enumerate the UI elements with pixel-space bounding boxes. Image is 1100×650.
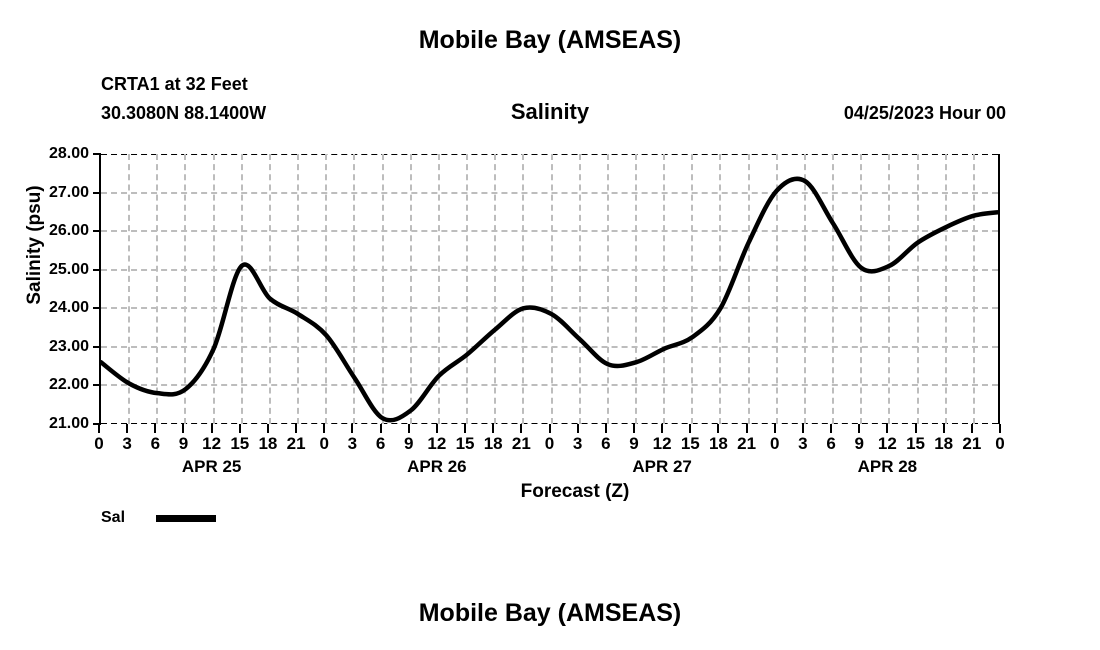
x-axis-tick-mark xyxy=(464,424,466,433)
y-axis-tick-mark xyxy=(93,269,101,271)
x-axis-tick-mark xyxy=(126,424,128,433)
y-axis-tick-label: 23.00 xyxy=(9,339,89,355)
y-axis-tick-label: 28.00 xyxy=(9,146,89,162)
x-axis-tick-mark xyxy=(689,424,691,433)
x-axis-tick-mark xyxy=(943,424,945,433)
x-axis-tick-mark xyxy=(295,424,297,433)
y-axis-tick-label: 24.00 xyxy=(9,300,89,316)
model-run-time: 04/25/2023 Hour 00 xyxy=(0,103,1006,124)
x-axis-day-label: APR 28 xyxy=(807,457,967,477)
footer-title: Mobile Bay (AMSEAS) xyxy=(0,599,1100,628)
y-axis-tick-mark xyxy=(93,346,101,348)
x-axis-tick-mark xyxy=(717,424,719,433)
plot-area xyxy=(99,154,1000,424)
x-axis-tick-mark xyxy=(154,424,156,433)
x-axis-tick-mark xyxy=(211,424,213,433)
y-axis-tick-label: 22.00 xyxy=(9,377,89,393)
y-axis-tick-mark xyxy=(93,307,101,309)
y-axis-tick-mark xyxy=(93,384,101,386)
x-axis-tick-mark xyxy=(999,424,1001,433)
x-axis-tick-mark xyxy=(520,424,522,433)
y-axis-tick-label: 21.00 xyxy=(9,416,89,432)
x-axis-tick-label: 0 xyxy=(980,434,1020,454)
x-axis-tick-mark xyxy=(492,424,494,433)
y-axis-tick-labels: 28.0027.0026.0025.0024.0023.0022.0021.00 xyxy=(7,154,89,424)
x-axis-tick-mark xyxy=(267,424,269,433)
station-label: CRTA1 at 32 Feet xyxy=(101,74,248,95)
x-axis-tick-mark xyxy=(98,424,100,433)
y-axis-tick-label: 27.00 xyxy=(9,185,89,201)
x-axis-tick-mark xyxy=(323,424,325,433)
x-axis-tick-mark xyxy=(915,424,917,433)
x-axis-day-label: APR 26 xyxy=(357,457,517,477)
x-axis-tick-mark xyxy=(746,424,748,433)
x-axis-tick-mark xyxy=(605,424,607,433)
x-axis-tick-mark xyxy=(549,424,551,433)
x-axis-title-text: Forecast (Z) xyxy=(521,481,630,503)
x-axis-day-label: APR 27 xyxy=(582,457,742,477)
x-axis-tick-mark xyxy=(886,424,888,433)
y-axis-tick-mark xyxy=(93,153,101,155)
y-axis-tick-mark xyxy=(93,423,101,425)
x-axis-tick-mark xyxy=(971,424,973,433)
x-axis-tick-mark xyxy=(802,424,804,433)
x-axis-tick-mark xyxy=(380,424,382,433)
x-axis-tick-mark xyxy=(633,424,635,433)
x-axis-day-label: APR 25 xyxy=(132,457,292,477)
salinity-line-series xyxy=(101,154,998,424)
x-axis-tick-mark xyxy=(351,424,353,433)
legend-label: Sal xyxy=(101,509,151,527)
y-axis-tick-mark xyxy=(93,192,101,194)
x-axis-tick-mark xyxy=(858,424,860,433)
x-axis-tick-mark xyxy=(661,424,663,433)
x-axis-tick-mark xyxy=(239,424,241,433)
legend: Sal xyxy=(101,509,216,527)
y-axis-tick-label: 25.00 xyxy=(9,262,89,278)
x-axis-tick-mark xyxy=(436,424,438,433)
x-axis-tick-mark xyxy=(774,424,776,433)
x-axis-tick-mark xyxy=(830,424,832,433)
x-axis-tick-mark xyxy=(408,424,410,433)
y-axis-tick-label: 26.00 xyxy=(9,223,89,239)
page-title: Mobile Bay (AMSEAS) xyxy=(0,26,1100,55)
x-axis-title: Forecast (Z) xyxy=(0,481,1100,503)
x-axis-tick-mark xyxy=(182,424,184,433)
y-axis-tick-mark xyxy=(93,230,101,232)
plot-inner xyxy=(101,154,998,424)
salinity-curve-path xyxy=(101,179,998,421)
x-axis-tick-mark xyxy=(577,424,579,433)
legend-line-swatch xyxy=(156,515,216,522)
